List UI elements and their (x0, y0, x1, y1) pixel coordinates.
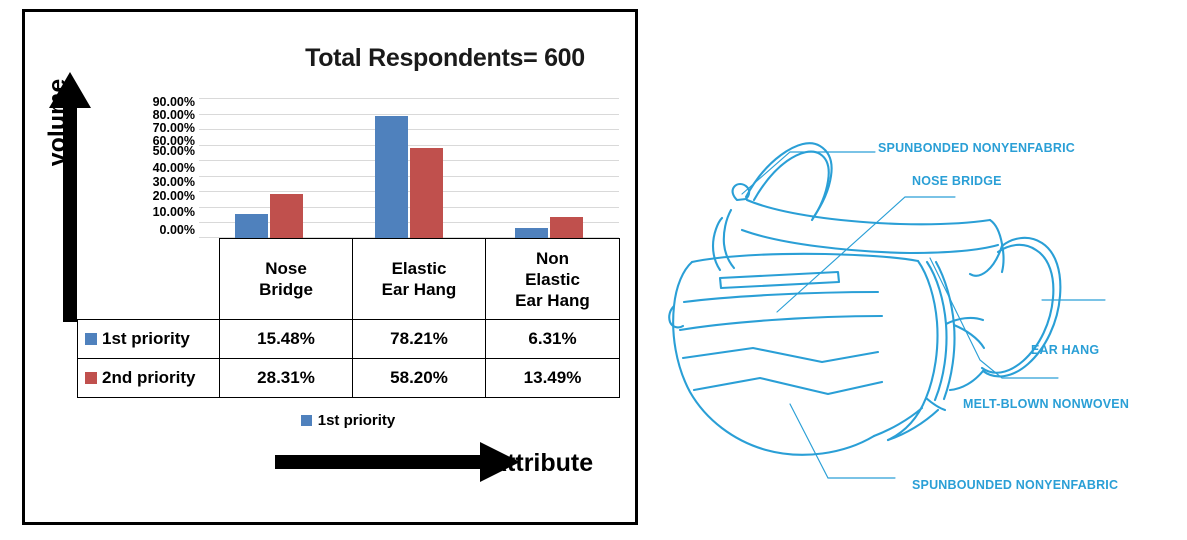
cell-2nd-priority-elastic-ear-hang: 58.20% (353, 359, 486, 398)
bar-group-nose-bridge (199, 98, 339, 238)
cell-1st-priority-elastic-ear-hang: 78.21% (353, 320, 486, 359)
ytick-30: 30.00% (153, 176, 195, 188)
ytick-80: 80.00% (153, 109, 195, 121)
row-label-text: 2nd priority (102, 368, 196, 387)
y-axis-label: volume (44, 68, 73, 178)
row-label-text: 1st priority (102, 329, 190, 348)
label-nose-bridge: NOSE BRIDGE (912, 174, 1002, 188)
chart-title: Total Respondents= 600 (275, 44, 615, 73)
bar-2nd-priority-elastic-ear-hang (410, 148, 443, 239)
header-line: Bridge (259, 280, 313, 299)
label-ear-hang: EAR HANG (1031, 343, 1099, 357)
data-table: Nose Bridge Elastic Ear Hang Non Elastic… (77, 238, 620, 398)
mask-illustration (650, 0, 1187, 540)
table-row-label-1st-priority: 1st priority (78, 320, 220, 359)
header-line: Non (536, 249, 569, 268)
bar-2nd-priority-nose-bridge (270, 194, 303, 238)
header-line: Ear Hang (382, 280, 457, 299)
table-row-label-2nd-priority: 2nd priority (78, 359, 220, 398)
cell-1st-priority-nose-bridge: 15.48% (220, 320, 353, 359)
legend-swatch-icon (301, 415, 312, 426)
table-col-header-elastic-ear-hang: Elastic Ear Hang (353, 239, 486, 320)
header-line: Elastic (525, 270, 580, 289)
table-corner-cell (78, 239, 220, 320)
cell-2nd-priority-non-elastic-ear-hang: 13.49% (486, 359, 620, 398)
y-axis-tick-labels: 90.00% 80.00% 70.00% 60.00% 50.00% 40.00… (109, 96, 195, 242)
header-line: Elastic (392, 259, 447, 278)
ytick-10: 10.00% (153, 206, 195, 218)
label-spunbounded-nonyenfabric: SPUNBOUNDED NONYENFABRIC (912, 478, 1118, 492)
table-col-header-non-elastic-ear-hang: Non Elastic Ear Hang (486, 239, 620, 320)
label-spunbonded-nonyenfabric: SPUNBONDED NONYENFABRIC (878, 141, 1075, 155)
ytick-90: 90.00% (153, 96, 195, 108)
label-melt-blown-nonwoven: MELT-BLOWN NONWOVEN (963, 397, 1129, 411)
table-row: 1st priority 15.48% 78.21% 6.31% (78, 320, 620, 359)
cell-1st-priority-non-elastic-ear-hang: 6.31% (486, 320, 620, 359)
bar-1st-priority-non-elastic-ear-hang (515, 228, 548, 238)
ytick-70: 70.00% (153, 122, 195, 134)
bar-group-elastic-ear-hang (339, 98, 479, 238)
ytick-0: 0.00% (160, 224, 195, 236)
ytick-50: 50.00% (153, 145, 195, 157)
table-header-row: Nose Bridge Elastic Ear Hang Non Elastic… (78, 239, 620, 320)
cell-2nd-priority-nose-bridge: 28.31% (220, 359, 353, 398)
legend-label: 1st priority (318, 412, 396, 429)
bar-1st-priority-elastic-ear-hang (375, 116, 408, 238)
bar-group-non-elastic-ear-hang (479, 98, 619, 238)
plot-area (199, 98, 619, 238)
ytick-20: 20.00% (153, 190, 195, 202)
bar-2nd-priority-non-elastic-ear-hang (550, 217, 583, 238)
bar-1st-priority-nose-bridge (235, 214, 268, 238)
chart-legend: 1st priority (77, 412, 619, 429)
mask-diagram-panel: SPUNBONDED NONYENFABRIC NOSE BRIDGE EAR … (650, 0, 1187, 540)
series1-swatch-icon (85, 333, 97, 345)
table-col-header-nose-bridge: Nose Bridge (220, 239, 353, 320)
series2-swatch-icon (85, 372, 97, 384)
bar-series-container (199, 98, 619, 238)
leader-line-spunbounded-bottom (790, 404, 895, 478)
header-line: Ear Hang (515, 291, 590, 310)
leader-line-melt-blown (930, 258, 1058, 378)
chart-panel: Total Respondents= 600 volume 90.00% 80.… (22, 9, 638, 525)
header-line: Nose (265, 259, 307, 278)
ytick-40: 40.00% (153, 162, 195, 174)
x-axis-label: Attribute (489, 449, 593, 478)
table-row: 2nd priority 28.31% 58.20% 13.49% (78, 359, 620, 398)
